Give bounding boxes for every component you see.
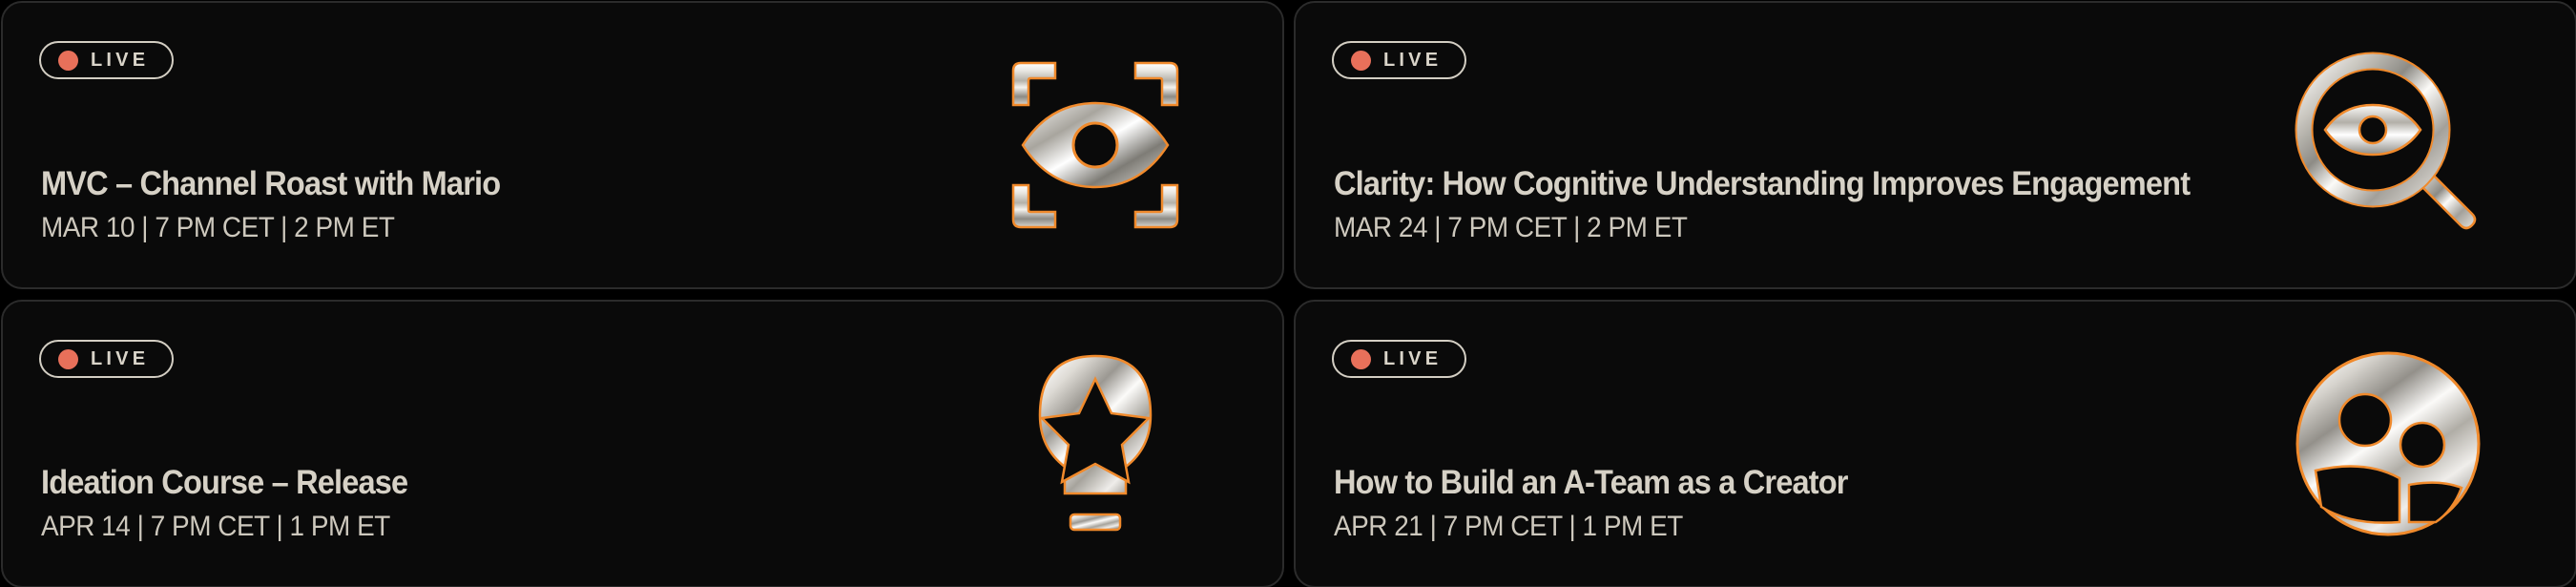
team-group-icon (2293, 348, 2483, 539)
event-datetime: MAR 10 | 7 PM CET | 2 PM ET (41, 212, 500, 243)
event-card[interactable]: LIVE Ideation Course – Release APR 14 | … (1, 300, 1284, 587)
status-badge-label: LIVE (91, 349, 149, 368)
status-badge-label: LIVE (1383, 349, 1442, 368)
event-title: MVC – Channel Roast with Mario (41, 166, 500, 203)
status-badge-label: LIVE (1383, 51, 1442, 70)
event-datetime: APR 14 | 7 PM CET | 1 PM ET (41, 511, 407, 542)
event-datetime: MAR 24 | 7 PM CET | 2 PM ET (1334, 212, 2190, 243)
event-title: Clarity: How Cognitive Understanding Imp… (1334, 166, 2190, 203)
status-badge: LIVE (39, 340, 174, 378)
status-badge: LIVE (1332, 41, 1466, 79)
status-badge-label: LIVE (91, 51, 149, 70)
event-card[interactable]: LIVE MVC – Channel Roast with Mario MAR … (1, 1, 1284, 289)
status-badge: LIVE (1332, 340, 1466, 378)
lightbulb-star-icon (1000, 348, 1191, 539)
event-card[interactable]: LIVE How to Build an A-Team as a Creator… (1294, 300, 2576, 587)
live-events-grid: LIVE MVC – Channel Roast with Mario MAR … (0, 0, 2576, 587)
live-dot-icon (58, 51, 78, 71)
live-dot-icon (1351, 51, 1371, 71)
event-text-block: MVC – Channel Roast with Mario MAR 10 | … (41, 166, 535, 244)
event-card[interactable]: LIVE Clarity: How Cognitive Understandin… (1294, 1, 2576, 289)
live-dot-icon (58, 349, 78, 369)
live-dot-icon (1351, 349, 1371, 369)
event-title: Ideation Course – Release (41, 465, 407, 502)
magnifier-eye-icon (2293, 50, 2483, 241)
event-datetime: APR 21 | 7 PM CET | 1 PM ET (1334, 511, 1848, 542)
event-text-block: How to Build an A-Team as a Creator APR … (1334, 465, 1886, 543)
event-text-block: Clarity: How Cognitive Understanding Imp… (1334, 166, 2254, 244)
scan-eye-icon (1000, 50, 1191, 241)
event-text-block: Ideation Course – Release APR 14 | 7 PM … (41, 465, 435, 543)
event-title: How to Build an A-Team as a Creator (1334, 465, 1848, 502)
status-badge: LIVE (39, 41, 174, 79)
